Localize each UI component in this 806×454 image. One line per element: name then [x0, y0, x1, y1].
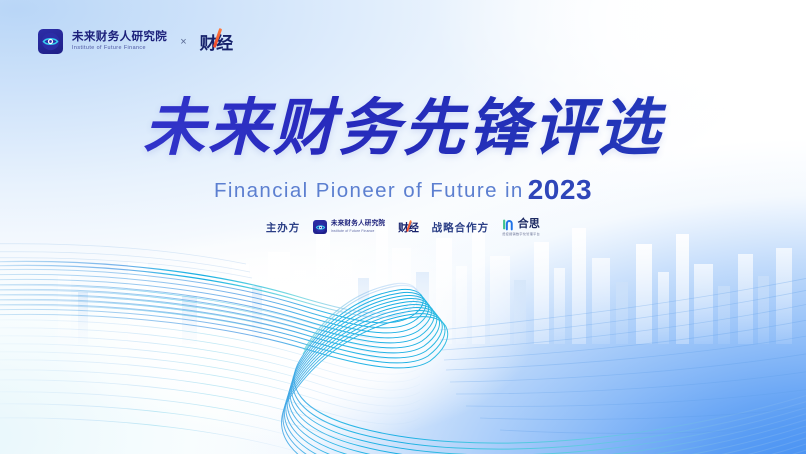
page-subtitle: Financial Pioneer of Future in2023: [0, 172, 806, 208]
caijing-logo: 财经: [200, 29, 233, 54]
poster-canvas: 未来财务人研究院 Institute of Future Finance × 财…: [0, 0, 806, 454]
page-title: 未来财务先锋评选: [0, 96, 806, 161]
hesi-mark-icon: [502, 218, 515, 231]
organizer-institute-text: 未来财务人研究院 Institute of Future Finance: [331, 221, 385, 232]
eye-mark-icon: [38, 29, 63, 54]
hesi-name-cn: 合思: [518, 219, 541, 230]
institute-name-block: 未来财务人研究院 Institute of Future Finance: [72, 32, 167, 52]
partner-label: 战略合作方: [432, 220, 490, 235]
organizer-institute-name-cn: 未来财务人研究院: [331, 221, 385, 228]
eye-mark-icon: [313, 220, 327, 234]
organizer-logo-institute: 未来财务人研究院 Institute of Future Finance: [313, 220, 385, 234]
partner-logo-hesi: 合思 费控报销数字化管理平台: [502, 218, 540, 236]
institute-name-en: Institute of Future Finance: [72, 46, 167, 51]
organizer-institute-name-en: Institute of Future Finance: [331, 230, 385, 233]
logo-separator-x: ×: [180, 36, 186, 48]
hesi-name-sub: 费控报销数字化管理平台: [502, 233, 540, 236]
organizer-logo-caijing: 财经: [398, 220, 418, 235]
hesi-logo-row: 合思: [502, 218, 540, 231]
organizer-label: 主办方: [266, 220, 301, 235]
sponsor-row: 主办方 未来财务人研究院 Institute of Future Finance…: [0, 218, 806, 236]
header-logo-row: 未来财务人研究院 Institute of Future Finance × 财…: [38, 29, 233, 54]
institute-name-cn: 未来财务人研究院: [72, 32, 167, 44]
subtitle-year: 2023: [528, 174, 592, 205]
subtitle-text: Financial Pioneer of Future in: [214, 179, 524, 202]
